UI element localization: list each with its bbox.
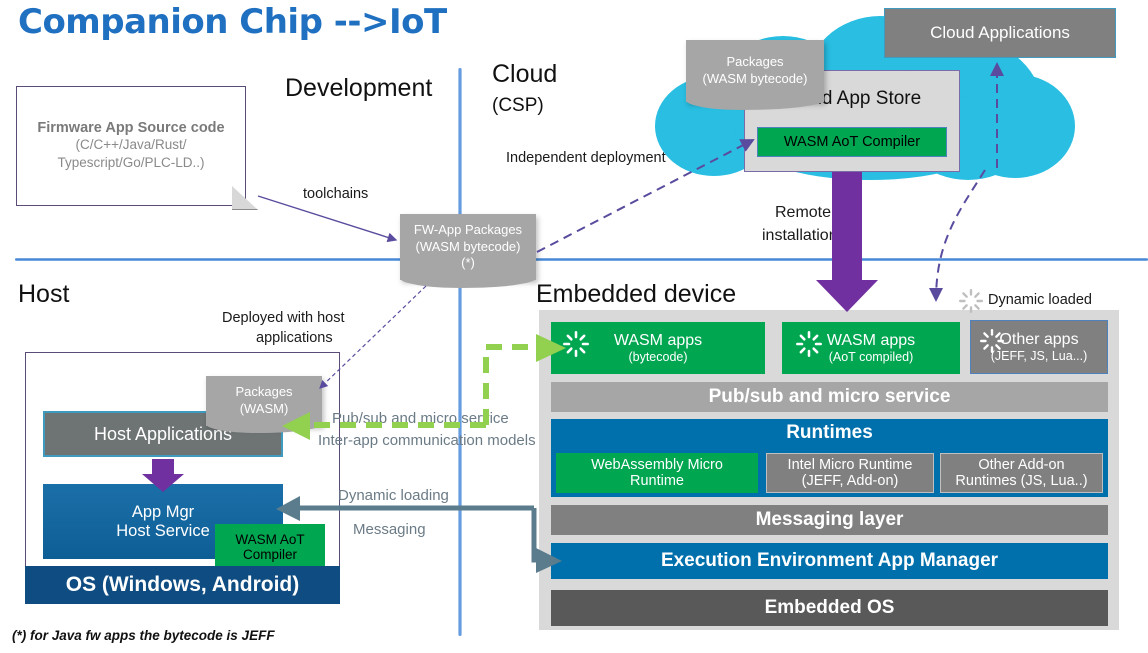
embedded-app-2-name: Other apps bbox=[999, 331, 1078, 349]
dynamic-loaded-legend-label: Dynamic loaded bbox=[988, 292, 1092, 308]
page-title: Companion Chip -->IoT bbox=[18, 2, 447, 42]
arrow-toolchains bbox=[258, 196, 396, 240]
embedded-runtime-wamr[interactable]: WebAssembly Micro Runtime bbox=[556, 453, 758, 493]
firmware-source-code-box[interactable]: Firmware App Source code (C/C++/Java/Rus… bbox=[16, 86, 246, 206]
divider-horizontal-left bbox=[15, 258, 455, 261]
embedded-runtime-0-l2: Runtime bbox=[630, 473, 684, 489]
deployed-with-host-line2: applications bbox=[256, 330, 333, 346]
footnote: (*) for Java fw apps the bytecode is JEF… bbox=[12, 628, 275, 643]
dynamic-loading-label: Dynamic loading bbox=[338, 487, 449, 504]
embedded-runtimes-title: Runtimes bbox=[551, 419, 1108, 447]
embedded-app-2-sub: (JEFF, JS, Lua...) bbox=[991, 349, 1088, 363]
section-heading-cloud: Cloud bbox=[492, 60, 557, 89]
app-mgr-line2: Host Service bbox=[116, 522, 210, 541]
embedded-messaging-layer-band[interactable]: Messaging layer bbox=[551, 505, 1108, 535]
embedded-app-manager-band[interactable]: Execution Environment App Manager bbox=[551, 543, 1108, 579]
section-heading-host: Host bbox=[18, 280, 69, 309]
embedded-runtime-1-l2: (JEFF, Add-on) bbox=[802, 473, 899, 489]
packages-cloud-callout: Packages (WASM bytecode) bbox=[686, 40, 824, 102]
embedded-os-label: Embedded OS bbox=[765, 597, 895, 619]
embedded-runtimes-title-label: Runtimes bbox=[786, 422, 873, 444]
host-os-box[interactable]: OS (Windows, Android) bbox=[25, 566, 340, 604]
cloud-applications-label: Cloud Applications bbox=[930, 23, 1070, 43]
embedded-pubsub-band[interactable]: Pub/sub and micro service bbox=[551, 382, 1108, 412]
dynamic-loaded-spinner-icon-legend bbox=[958, 288, 984, 319]
cloud-applications-box[interactable]: Cloud Applications bbox=[884, 8, 1116, 58]
arrow-dynamic-loaded-down bbox=[936, 170, 985, 300]
embedded-messaging-layer-label: Messaging layer bbox=[756, 509, 904, 531]
section-heading-development: Development bbox=[285, 74, 432, 103]
embedded-runtime-1-l1: Intel Micro Runtime bbox=[788, 457, 913, 473]
embedded-app-1-name: WASM apps bbox=[827, 332, 915, 350]
embedded-runtime-2-l2: Runtimes (JS, Lua..) bbox=[955, 473, 1087, 489]
embedded-app-manager-label: Execution Environment App Manager bbox=[661, 550, 998, 572]
pubsub-models-line2: Inter-app communication models bbox=[318, 432, 536, 449]
host-wasm-aot-compiler-box[interactable]: WASM AoT Compiler bbox=[215, 524, 325, 570]
embedded-app-0-name: WASM apps bbox=[614, 332, 702, 350]
pubsub-models-line1: Pub/sub and micro service bbox=[332, 410, 509, 427]
divider-vertical bbox=[458, 68, 462, 636]
deployed-with-host-line1: Deployed with host bbox=[222, 310, 345, 326]
dynamic-loaded-spinner-icon-app2 bbox=[979, 328, 1005, 359]
packages-host-line2: (WASM) bbox=[240, 401, 289, 418]
dynamic-loaded-spinner-icon-app0 bbox=[562, 330, 590, 363]
section-heading-cloud-sub: (CSP) bbox=[492, 95, 544, 117]
cloud-wasm-aot-compiler-label: WASM AoT Compiler bbox=[784, 134, 920, 150]
packages-host-callout: Packages (WASM) bbox=[206, 376, 322, 426]
divider-horizontal-right bbox=[466, 258, 1148, 261]
dynamic-loaded-spinner-icon-app1 bbox=[795, 330, 823, 363]
fw-app-packages-line1: FW-App Packages bbox=[414, 222, 522, 239]
embedded-os-band[interactable]: Embedded OS bbox=[551, 590, 1108, 626]
embedded-app-1-sub: (AoT compiled) bbox=[829, 350, 914, 364]
app-mgr-line1: App Mgr bbox=[132, 503, 194, 522]
packages-cloud-line2: (WASM bytecode) bbox=[703, 71, 808, 88]
diagram-canvas: Companion Chip -->IoT Cloud Applications… bbox=[0, 0, 1148, 653]
cloud-wasm-aot-compiler-box[interactable]: WASM AoT Compiler bbox=[757, 127, 947, 157]
host-aot-line1: WASM AoT bbox=[235, 532, 304, 547]
embedded-app-0-sub: (bytecode) bbox=[628, 350, 687, 364]
embedded-runtime-0-l1: WebAssembly Micro bbox=[591, 457, 723, 473]
packages-host-line1: Packages bbox=[235, 384, 292, 401]
section-heading-embedded: Embedded device bbox=[536, 280, 736, 309]
remote-installation-line2: installation bbox=[762, 227, 838, 245]
fw-app-packages-callout: FW-App Packages (WASM bytecode) (*) bbox=[400, 214, 536, 280]
remote-installation-line1: Remote bbox=[775, 204, 831, 222]
firmware-source-title: Firmware App Source code bbox=[37, 120, 224, 136]
messaging-label: Messaging bbox=[353, 521, 426, 538]
host-os-label: OS (Windows, Android) bbox=[66, 573, 300, 597]
fw-app-packages-fold bbox=[400, 278, 536, 288]
toolchains-label: toolchains bbox=[303, 186, 368, 202]
embedded-runtime-other[interactable]: Other Add-on Runtimes (JS, Lua..) bbox=[940, 453, 1103, 493]
embedded-runtime-intel[interactable]: Intel Micro Runtime (JEFF, Add-on) bbox=[766, 453, 934, 493]
firmware-source-line2: Typescript/Go/PLC-LD..) bbox=[57, 154, 204, 172]
firmware-source-line1: (C/C++/Java/Rust/ bbox=[75, 136, 186, 154]
fw-app-packages-line3: (*) bbox=[461, 255, 475, 272]
packages-cloud-line1: Packages bbox=[726, 54, 783, 71]
independent-deployment-label: Independent deployment bbox=[506, 150, 666, 166]
host-aot-line2: Compiler bbox=[243, 547, 297, 562]
embedded-pubsub-label: Pub/sub and micro service bbox=[709, 386, 951, 408]
embedded-runtime-2-l1: Other Add-on bbox=[978, 457, 1064, 473]
fw-app-packages-line2: (WASM bytecode) bbox=[416, 239, 521, 256]
